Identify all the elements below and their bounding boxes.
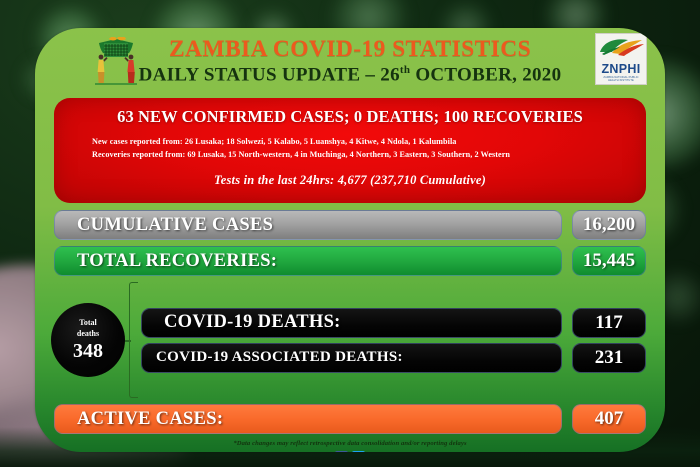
zambia-coat-of-arms-icon bbox=[93, 37, 139, 87]
statistics-section: CUMULATIVE CASES 16,200 TOTAL RECOVERIES… bbox=[35, 210, 665, 447]
banner-details: New cases reported from: 26 Lusaka; 18 S… bbox=[66, 136, 634, 161]
stat-row-cumulative-cases: CUMULATIVE CASES 16,200 bbox=[54, 210, 646, 240]
total-recoveries-value: 15,445 bbox=[572, 246, 646, 276]
headline-text: 63 NEW CONFIRMED CASES; 0 DEATHS; 100 RE… bbox=[66, 107, 634, 127]
covid-associated-deaths-value: 231 bbox=[572, 343, 646, 373]
stat-row-total-recoveries: TOTAL RECOVERIES: 15,445 bbox=[54, 246, 646, 276]
znphi-logo: ZNPHI ZAMBIA NATIONAL PUBLIC HEALTH INST… bbox=[595, 33, 647, 85]
covid-deaths-label: COVID-19 DEATHS: bbox=[141, 308, 562, 338]
card-footer: f ▼ Ministry of Health: @mohzambia ZNPHI… bbox=[35, 451, 665, 452]
znphi-bird-emblem-icon bbox=[598, 37, 646, 57]
stat-row-covid-associated-deaths: COVID-19 ASSOCIATED DEATHS: 231 bbox=[141, 343, 646, 373]
active-cases-label: ACTIVE CASES: bbox=[54, 404, 562, 434]
facebook-icon[interactable]: f bbox=[335, 451, 348, 452]
new-cases-breakdown: New cases reported from: 26 Lusaka; 18 S… bbox=[92, 136, 634, 149]
twitter-icon[interactable]: ▼ bbox=[352, 451, 365, 452]
subtitle-date: OCTOBER, 2020 bbox=[410, 64, 561, 85]
subtitle-text: DAILY STATUS UPDATE – 26 bbox=[139, 64, 400, 85]
recoveries-breakdown: Recoveries reported from: 69 Lusaka, 15 … bbox=[92, 149, 634, 162]
deaths-rows: COVID-19 DEATHS: 117 COVID-19 ASSOCIATED… bbox=[141, 308, 646, 373]
coat-figure-right bbox=[124, 55, 134, 83]
total-deaths-value: 348 bbox=[73, 340, 103, 363]
total-deaths-badge: Total deaths 348 bbox=[51, 303, 125, 377]
disclaimer-text: *Data changes may reflect retrospective … bbox=[54, 440, 646, 447]
subtitle-ordinal: th bbox=[400, 64, 410, 76]
znphi-tagline: ZAMBIA NATIONAL PUBLIC HEALTH INSTITUTE bbox=[598, 76, 644, 83]
social-icons: f ▼ bbox=[35, 451, 665, 452]
stat-row-active-cases: ACTIVE CASES: 407 bbox=[54, 404, 646, 434]
coat-figure-left bbox=[98, 55, 108, 83]
covid-associated-deaths-label: COVID-19 ASSOCIATED DEATHS: bbox=[141, 343, 562, 373]
headline-banner: 63 NEW CONFIRMED CASES; 0 DEATHS; 100 RE… bbox=[54, 98, 646, 203]
covid-deaths-value: 117 bbox=[572, 308, 646, 338]
stat-row-covid-deaths: COVID-19 DEATHS: 117 bbox=[141, 308, 646, 338]
znphi-name: ZNPHI bbox=[598, 62, 644, 76]
stats-card: ZAMBIA COVID-19 STATISTICS DAILY STATUS … bbox=[35, 28, 665, 452]
cumulative-cases-value: 16,200 bbox=[572, 210, 646, 240]
card-header: ZAMBIA COVID-19 STATISTICS DAILY STATUS … bbox=[35, 28, 665, 94]
total-deaths-label: Total deaths bbox=[77, 317, 99, 339]
cumulative-cases-label: CUMULATIVE CASES bbox=[54, 210, 562, 240]
tests-summary: Tests in the last 24hrs: 4,677 (237,710 … bbox=[66, 173, 634, 188]
infographic-canvas: ZAMBIA COVID-19 STATISTICS DAILY STATUS … bbox=[0, 0, 700, 467]
deaths-bracket bbox=[129, 282, 138, 398]
deaths-group: Total deaths 348 COVID-19 DEATHS: 117 CO… bbox=[54, 282, 646, 398]
active-cases-value: 407 bbox=[572, 404, 646, 434]
total-deaths-label-line2: deaths bbox=[77, 328, 99, 339]
total-deaths-label-line1: Total bbox=[77, 317, 99, 328]
total-recoveries-label: TOTAL RECOVERIES: bbox=[54, 246, 562, 276]
